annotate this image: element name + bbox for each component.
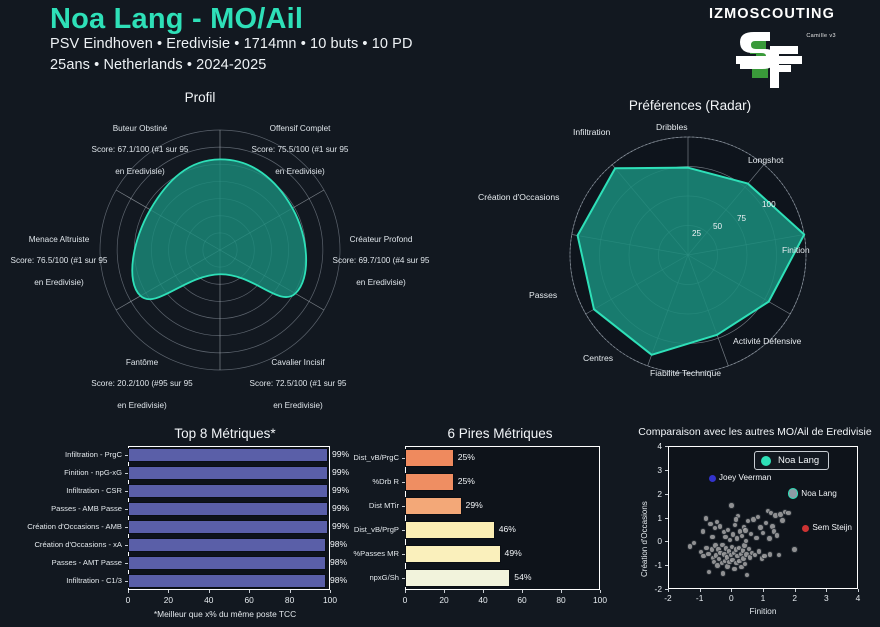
x-axis-tick-label: 0 <box>396 595 414 605</box>
y-axis-tick <box>665 446 668 447</box>
pref-tick-75: 75 <box>737 214 746 223</box>
x-axis-tick-label: 60 <box>240 595 258 605</box>
axis-tick <box>402 458 405 459</box>
bar <box>405 473 454 491</box>
y-axis-tick-label: 2 <box>646 489 662 499</box>
x-axis-tick-label: 40 <box>200 595 218 605</box>
legend-label: Noa Lang <box>778 455 819 466</box>
bar-category-label: Dist_vB/PrgP <box>247 525 399 534</box>
top-metrics-caption: *Meilleur que x% du même poste TCC <box>115 609 335 619</box>
bar-category-label: %Drb R <box>247 477 399 486</box>
bar <box>405 521 495 539</box>
profil-label-cavalier-incisif: Cavalier Incisif Score: 72.5/100 (#1 sur… <box>218 347 378 412</box>
scatter-point <box>709 534 715 540</box>
x-axis-tick-label: 80 <box>281 595 299 605</box>
scatter-point-label: Sem Steijn <box>812 523 852 532</box>
bar-category-label: Dist MTir <box>247 501 399 510</box>
bar-value-label: 54% <box>514 572 531 582</box>
bar-category-label: Passes - AMB Passe <box>0 504 122 513</box>
x-axis-tick <box>249 590 250 593</box>
x-axis-tick-label: 100 <box>321 595 339 605</box>
bar <box>405 497 462 515</box>
axis-tick <box>125 581 128 582</box>
page-title: Noa Lang - MO/Ail <box>50 4 650 34</box>
pref-tick-25: 25 <box>692 229 701 238</box>
scatter-point-label: Noa Lang <box>801 489 837 498</box>
x-axis-tick-label: 4 <box>849 593 867 603</box>
x-axis-tick-label: 100 <box>591 595 609 605</box>
axis-tick <box>402 506 405 507</box>
player-meta-line-1: PSV Eindhoven • Eredivisie • 1714mn • 10… <box>50 34 650 55</box>
x-axis-tick <box>668 589 669 592</box>
pref-tick-100: 100 <box>762 200 776 209</box>
pref-label-creation-occasions: Création d'Occasions <box>478 192 559 202</box>
axis-tick <box>402 578 405 579</box>
y-axis-tick <box>665 518 668 519</box>
bar-category-label: Infiltration - PrgC <box>0 450 122 459</box>
x-axis-tick <box>763 589 764 592</box>
pref-label-infiltration: Infiltration <box>573 127 610 137</box>
x-axis-tick <box>330 590 331 593</box>
axis-tick <box>125 527 128 528</box>
x-axis-tick-label: 40 <box>474 595 492 605</box>
axis-tick <box>402 530 405 531</box>
pref-label-fiabilite-technique: Fiabilité Technique <box>650 368 721 378</box>
bar-category-label: Création d'Occasions - AMB <box>0 522 122 531</box>
x-axis-tick <box>826 589 827 592</box>
x-axis-tick <box>290 590 291 593</box>
scatter-point-highlighted[interactable] <box>709 475 716 482</box>
bar-category-label: %Passes MR <box>247 549 399 558</box>
bar-value-label: 98% <box>330 557 347 567</box>
axis-tick <box>402 554 405 555</box>
x-axis-tick-label: 60 <box>513 595 531 605</box>
scatter-point <box>766 535 772 541</box>
bar-category-label: Dist_vB/PrgC <box>247 453 399 462</box>
bar-category-label: Passes - AMT Passe <box>0 558 122 567</box>
bar <box>128 484 328 497</box>
scatter-x-axis-label: Finition <box>668 606 858 616</box>
scatter-point-highlighted[interactable] <box>788 488 798 498</box>
pref-label-centres: Centres <box>583 353 613 363</box>
axis-tick <box>125 563 128 564</box>
bar-value-label: 25% <box>458 476 475 486</box>
scatter-y-axis-label: Création d'Occasions <box>640 501 649 577</box>
y-axis-tick <box>665 589 668 590</box>
bar-category-label: Création d'Occasions - xA <box>0 540 122 549</box>
x-axis-tick <box>561 590 562 593</box>
sf-monogram-icon <box>726 28 818 90</box>
scatter-point <box>753 535 759 541</box>
y-axis-tick <box>665 565 668 566</box>
scatter-legend[interactable]: Noa Lang <box>754 451 829 470</box>
axis-tick <box>125 455 128 456</box>
bar-value-label: 99% <box>332 485 349 495</box>
x-axis-tick-label: 2 <box>786 593 804 603</box>
x-axis-tick-label: 1 <box>754 593 772 603</box>
bar-value-label: 25% <box>458 452 475 462</box>
preferences-radar-chart <box>460 110 860 400</box>
axis-tick <box>125 491 128 492</box>
pref-label-activite-defensive: Activité Défensive <box>733 336 801 346</box>
y-axis-tick <box>665 541 668 542</box>
header: Noa Lang - MO/Ail PSV Eindhoven • Erediv… <box>50 4 650 76</box>
brand-logo: IZMOSCOUTING Camille v3 <box>672 6 872 90</box>
x-axis-tick <box>858 589 859 592</box>
x-axis-tick <box>168 590 169 593</box>
x-axis-tick-label: 20 <box>159 595 177 605</box>
axis-tick <box>125 473 128 474</box>
pref-label-passes: Passes <box>529 290 557 300</box>
scatter-point-label: Joey Veerman <box>719 473 771 482</box>
bar-category-label: npxG/Sh <box>247 573 399 582</box>
axis-tick <box>125 545 128 546</box>
scatter-point <box>731 566 737 572</box>
scatter-point <box>743 538 749 544</box>
x-axis-tick-label: 80 <box>552 595 570 605</box>
pref-label-finition: Finition <box>782 245 810 255</box>
bar-category-label: Finition - npG-xG <box>0 468 122 477</box>
profil-label-buteur-obstine: Buteur Obstiné Score: 67.1/100 (#1 sur 9… <box>60 113 220 178</box>
scatter-point <box>720 570 726 576</box>
profil-label-menace-altruiste: Menace Altruiste Score: 76.5/100 (#1 sur… <box>0 224 118 289</box>
axis-tick <box>402 482 405 483</box>
x-axis-tick-label: 20 <box>435 595 453 605</box>
bar-category-label: Infiltration - C1/3 <box>0 576 122 585</box>
y-axis-tick-label: 4 <box>646 441 662 451</box>
bar <box>405 545 501 563</box>
x-axis-tick <box>444 590 445 593</box>
scatter-point <box>733 516 739 522</box>
bar <box>405 569 510 587</box>
worst-metrics-title: 6 Pires Métriques <box>395 426 605 441</box>
bar-value-label: 99% <box>332 467 349 477</box>
x-axis-tick <box>600 590 601 593</box>
y-axis-tick-label: 3 <box>646 465 662 475</box>
x-axis-tick-label: 0 <box>119 595 137 605</box>
x-axis-tick <box>700 589 701 592</box>
x-axis-tick <box>209 590 210 593</box>
x-axis-tick-label: -1 <box>691 593 709 603</box>
x-axis-tick-label: 3 <box>817 593 835 603</box>
scatter-point <box>742 527 748 533</box>
pref-label-dribbles: Dribbles <box>656 122 688 132</box>
bar <box>128 556 326 569</box>
x-axis-tick-label: -2 <box>659 593 677 603</box>
y-axis-tick <box>665 470 668 471</box>
x-axis-tick <box>795 589 796 592</box>
player-meta-line-2: 25ans • Netherlands • 2024-2025 <box>50 55 650 76</box>
scatter-point <box>767 551 773 557</box>
scatter-point <box>785 510 791 516</box>
x-axis-tick <box>522 590 523 593</box>
profil-label-offensif-complet: Offensif Complet Score: 75.5/100 (#1 sur… <box>220 113 380 178</box>
x-axis-tick <box>483 590 484 593</box>
bar <box>405 449 454 467</box>
bar-value-label: 29% <box>466 500 483 510</box>
brand-name: IZMOSCOUTING <box>672 6 872 22</box>
axis-tick <box>125 509 128 510</box>
scatter-point <box>774 532 780 538</box>
x-axis-tick <box>405 590 406 593</box>
x-axis-tick <box>731 589 732 592</box>
legend-swatch <box>761 456 771 466</box>
x-axis-tick-label: 0 <box>722 593 740 603</box>
y-axis-tick <box>665 494 668 495</box>
pref-tick-50: 50 <box>713 222 722 231</box>
bar-category-label: Infiltration - CSR <box>0 486 122 495</box>
comparison-title: Comparaison avec les autres MO/Ail de Er… <box>630 426 880 438</box>
profil-label-fantome: Fantôme Score: 20.2/100 (#95 sur 95 en E… <box>62 347 222 412</box>
scatter-point <box>791 546 797 552</box>
x-axis-tick <box>128 590 129 593</box>
scouting-report-page: Noa Lang - MO/Ail PSV Eindhoven • Erediv… <box>0 0 880 627</box>
profil-label-createur-profond: Créateur Profond Score: 69.7/100 (#4 sur… <box>322 224 440 289</box>
pref-label-longshot: Longshot <box>748 155 783 165</box>
scatter-point <box>700 528 706 534</box>
bar-value-label: 46% <box>499 524 516 534</box>
bar-value-label: 98% <box>330 539 347 549</box>
y-axis-tick-label: -2 <box>646 584 662 594</box>
scatter-point <box>728 502 734 508</box>
bar-value-label: 49% <box>505 548 522 558</box>
top-metrics-title: Top 8 Métriques* <box>115 426 335 441</box>
scatter-point <box>779 517 785 523</box>
